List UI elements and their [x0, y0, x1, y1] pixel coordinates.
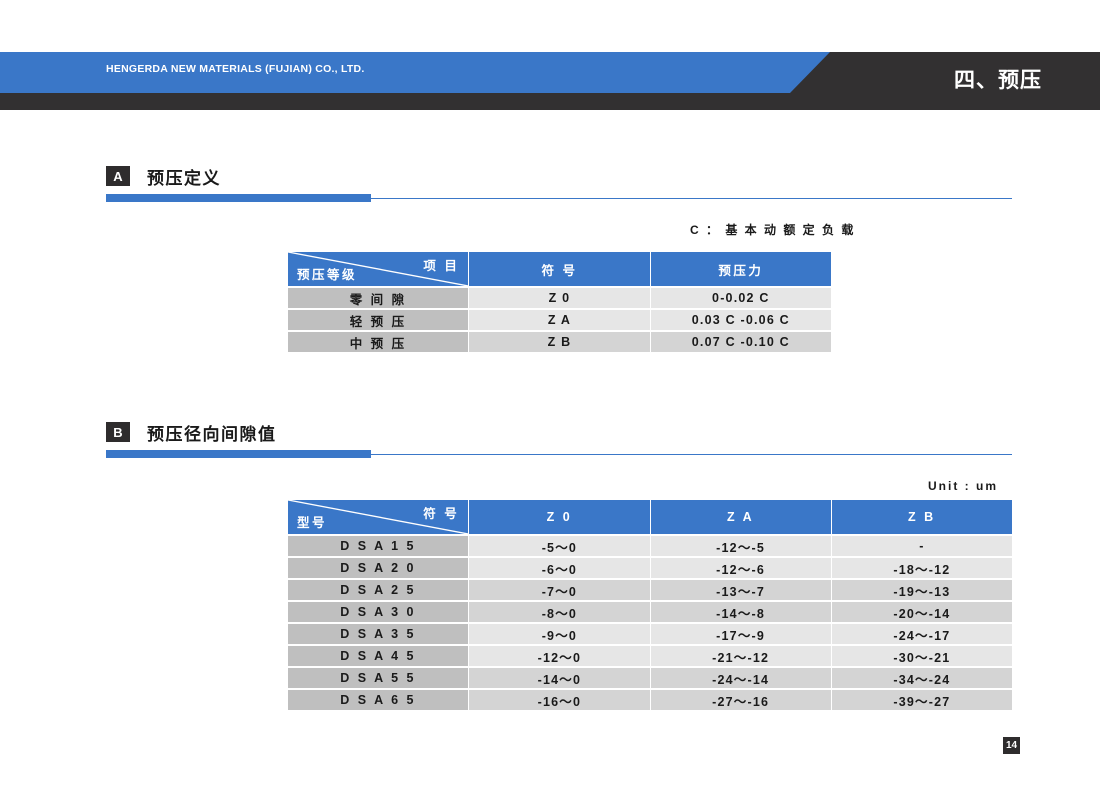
table1-corner-header: 项 目 预压等级: [288, 252, 468, 286]
table2-r6-z0: -14～0: [469, 668, 649, 688]
table2-r5-z0: -12～0: [469, 646, 649, 666]
table1-col-symbol: 符 号: [469, 252, 649, 286]
section-b-rule-thick: [106, 450, 371, 458]
section-b-badge: B: [106, 422, 130, 442]
table2-r1-model: D S A 2 0: [288, 558, 468, 578]
table2-r7-zb: -39～-27: [832, 690, 1012, 710]
table2-r2-model: D S A 2 5: [288, 580, 468, 600]
table2-r2-zb: -19～-13: [832, 580, 1012, 600]
table2-r0-za: -12～-5: [651, 536, 831, 556]
table2-col-zb: Z B: [832, 500, 1012, 534]
table2-r2-z0: -7～0: [469, 580, 649, 600]
page-number: 14: [1003, 737, 1020, 754]
table-row: D S A 3 0 -8～0 -14～-8 -20～-14: [288, 602, 1012, 622]
table2-header-row: 符 号 型号 Z 0 Z A Z B: [288, 500, 1012, 534]
section-a-row: A 预压定义: [106, 163, 1012, 189]
table2-r5-za: -21～-12: [651, 646, 831, 666]
table1-r2-grade: 中 预 压: [288, 332, 468, 352]
table2-r7-za: -27～-16: [651, 690, 831, 710]
table2-col-za: Z A: [651, 500, 831, 534]
section-a-rule: [106, 194, 1012, 202]
table2-body: D S A 1 5 -5～0 -12～-5 - D S A 2 0 -6～0 -…: [288, 536, 1012, 710]
table2-r6-zb: -34～-24: [832, 668, 1012, 688]
page-header: HENGERDA NEW MATERIALS (FUJIAN) CO., LTD…: [0, 52, 1100, 110]
table2-r7-model: D S A 6 5: [288, 690, 468, 710]
chapter-title: 四、预压: [954, 64, 1042, 94]
table-row: 轻 预 压 Z A 0.03 C -0.06 C: [288, 310, 831, 330]
table2-r7-z0: -16～0: [469, 690, 649, 710]
table2-r0-z0: -5～0: [469, 536, 649, 556]
table1-r1-force: 0.03 C -0.06 C: [651, 310, 831, 330]
table2-r4-za: -17～-9: [651, 624, 831, 644]
table1-header-row: 项 目 预压等级 符 号 预压力: [288, 252, 831, 286]
table1-r1-symbol: Z A: [469, 310, 649, 330]
table2-r3-za: -14～-8: [651, 602, 831, 622]
table2-r0-model: D S A 1 5: [288, 536, 468, 556]
section-b-row: B 预压径向间隙值: [106, 419, 1012, 445]
table1-r0-grade: 零 间 隙: [288, 288, 468, 308]
table2-r5-zb: -30～-21: [832, 646, 1012, 666]
table-row: D S A 4 5 -12～0 -21～-12 -30～-21: [288, 646, 1012, 666]
table2-r5-model: D S A 4 5: [288, 646, 468, 666]
table2-r1-za: -12～-6: [651, 558, 831, 578]
table-row: D S A 2 5 -7～0 -13～-7 -19～-13: [288, 580, 1012, 600]
table2-r3-zb: -20～-14: [832, 602, 1012, 622]
section-a-title: 预压定义: [147, 164, 221, 189]
section-b-rule: [106, 450, 1012, 458]
table-row: D S A 3 5 -9～0 -17～-9 -24～-17: [288, 624, 1012, 644]
table1-col-force: 预压力: [651, 252, 831, 286]
table2-r6-za: -24～-14: [651, 668, 831, 688]
table1-r0-force: 0-0.02 C: [651, 288, 831, 308]
preload-definition-table: 项 目 预压等级 符 号 预压力 零 间 隙 Z 0 0-0.02 C 轻 预 …: [287, 250, 832, 354]
table2-r3-model: D S A 3 0: [288, 602, 468, 622]
table2-r4-z0: -9～0: [469, 624, 649, 644]
table1-corner-top-label: 项 目: [423, 255, 459, 274]
table2-corner-header: 符 号 型号: [288, 500, 468, 534]
table2-corner-top-label: 符 号: [423, 503, 459, 522]
table1-r2-force: 0.07 C -0.10 C: [651, 332, 831, 352]
table-row: 中 预 压 Z B 0.07 C -0.10 C: [288, 332, 831, 352]
table2-r1-z0: -6～0: [469, 558, 649, 578]
table1-r1-grade: 轻 预 压: [288, 310, 468, 330]
section-b-heading: B 预压径向间隙值: [106, 419, 1012, 458]
table1-corner-bottom-label: 预压等级: [297, 264, 357, 283]
radial-clearance-table: 符 号 型号 Z 0 Z A Z B D S A 1 5 -5～0 -12～-5…: [287, 498, 1013, 712]
table-row: D S A 1 5 -5～0 -12～-5 -: [288, 536, 1012, 556]
table1-body: 零 间 隙 Z 0 0-0.02 C 轻 预 压 Z A 0.03 C -0.0…: [288, 288, 831, 352]
table2-corner-bottom-label: 型号: [297, 512, 327, 531]
section-a-rule-thick: [106, 194, 371, 202]
table-row: D S A 2 0 -6～0 -12～-6 -18～-12: [288, 558, 1012, 578]
company-name: HENGERDA NEW MATERIALS (FUJIAN) CO., LTD…: [106, 63, 365, 75]
note-basic-dynamic-load: C ： 基 本 动 额 定 负 载: [690, 221, 855, 238]
table-row: D S A 6 5 -16～0 -27～-16 -39～-27: [288, 690, 1012, 710]
table2-r2-za: -13～-7: [651, 580, 831, 600]
section-b-title: 预压径向间隙值: [147, 420, 277, 445]
table1-r0-symbol: Z 0: [469, 288, 649, 308]
table2-r3-z0: -8～0: [469, 602, 649, 622]
note-unit: Unit : um: [928, 479, 998, 493]
table-row: D S A 5 5 -14～0 -24～-14 -34～-24: [288, 668, 1012, 688]
table2-r6-model: D S A 5 5: [288, 668, 468, 688]
section-a-heading: A 预压定义: [106, 163, 1012, 202]
table2-col-z0: Z 0: [469, 500, 649, 534]
table2-r4-zb: -24～-17: [832, 624, 1012, 644]
table-row: 零 间 隙 Z 0 0-0.02 C: [288, 288, 831, 308]
table2-r4-model: D S A 3 5: [288, 624, 468, 644]
section-a-badge: A: [106, 166, 130, 186]
table1-r2-symbol: Z B: [469, 332, 649, 352]
table2-r0-zb: -: [832, 536, 1012, 556]
table2-r1-zb: -18～-12: [832, 558, 1012, 578]
